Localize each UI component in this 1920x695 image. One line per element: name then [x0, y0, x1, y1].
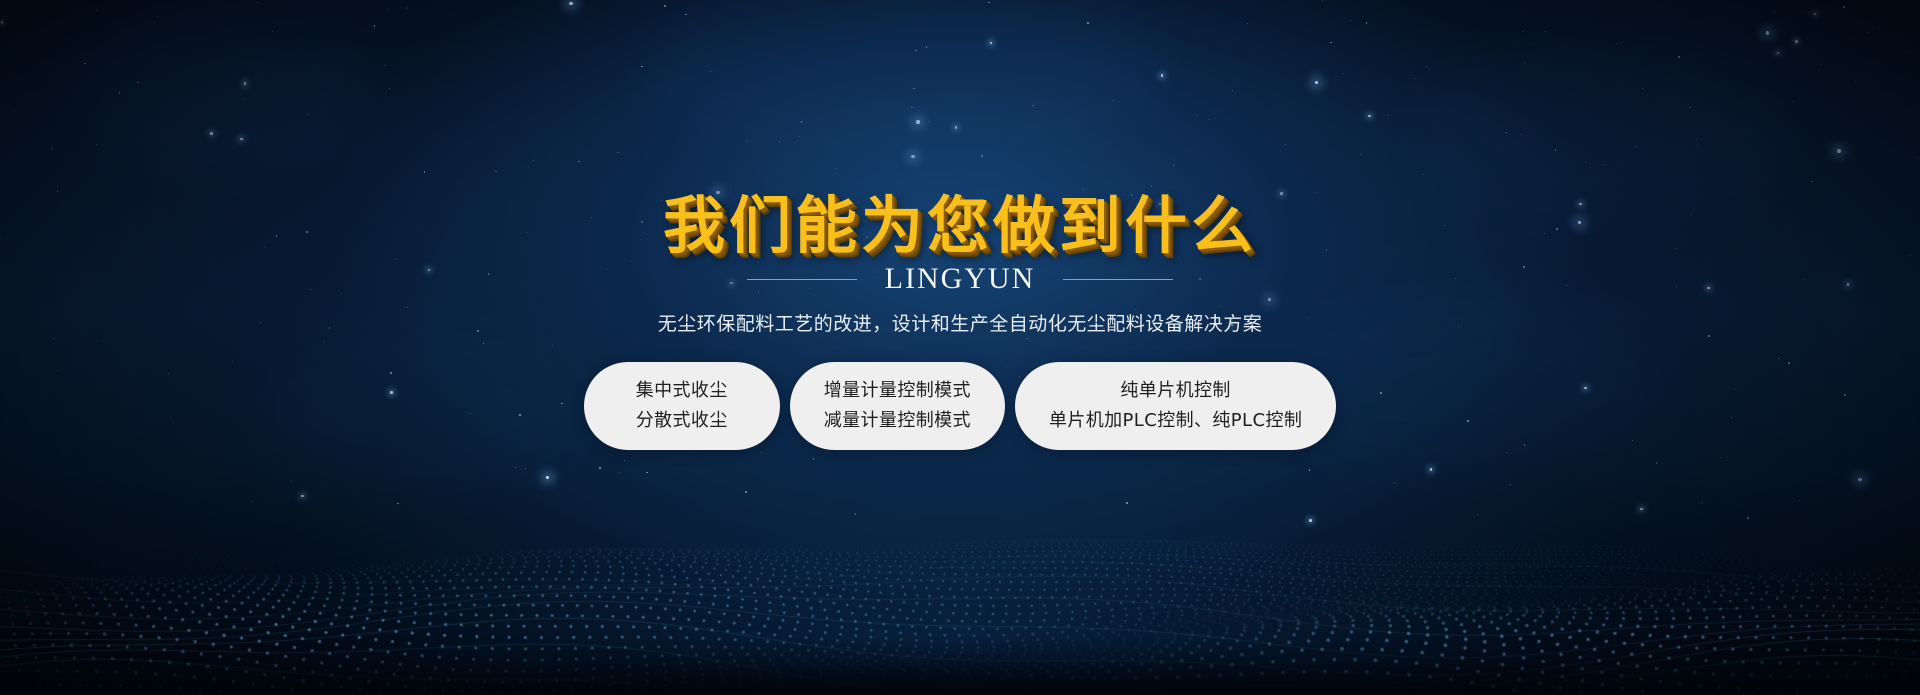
- banner-description: 无尘环保配料工艺的改进，设计和生产全自动化无尘配料设备解决方案: [0, 311, 1920, 337]
- feature-card-line-2: 分散式收尘: [636, 410, 728, 432]
- feature-card-dust-collection[interactable]: 集中式收尘 分散式收尘: [584, 362, 780, 450]
- bottom-fade: [0, 635, 1920, 695]
- hero-banner: 我们能为您做到什么 LINGYUN 无尘环保配料工艺的改进，设计和生产全自动化无…: [0, 0, 1920, 695]
- starfield: [0, 0, 1920, 695]
- page-title: 我们能为您做到什么: [0, 191, 1920, 261]
- feature-card-list: 集中式收尘 分散式收尘 增量计量控制模式 减量计量控制模式 纯单片机控制 单片机…: [0, 362, 1920, 450]
- feature-card-line-1: 纯单片机控制: [1120, 380, 1230, 402]
- feature-card-line-2: 单片机加PLC控制、纯PLC控制: [1049, 410, 1302, 432]
- feature-card-line-2: 减量计量控制模式: [824, 410, 971, 432]
- wave-glow: [0, 565, 1920, 695]
- digital-wave-decoration: [0, 495, 1920, 695]
- digital-wave-icon: [0, 495, 1920, 695]
- feature-card-control-system[interactable]: 纯单片机控制 单片机加PLC控制、纯PLC控制: [1015, 362, 1336, 450]
- brand-name-en: LINGYUN: [885, 262, 1036, 296]
- feature-card-line-1: 增量计量控制模式: [824, 380, 971, 402]
- divider-right: [1063, 279, 1173, 280]
- brand-subtitle-row: LINGYUN: [0, 262, 1920, 296]
- feature-card-metering-mode[interactable]: 增量计量控制模式 减量计量控制模式: [790, 362, 1005, 450]
- feature-card-line-1: 集中式收尘: [636, 380, 728, 402]
- nebula-haze: [640, 0, 1160, 170]
- nebula-haze: [70, 20, 370, 170]
- vignette-overlay: [0, 0, 1920, 695]
- divider-left: [747, 279, 857, 280]
